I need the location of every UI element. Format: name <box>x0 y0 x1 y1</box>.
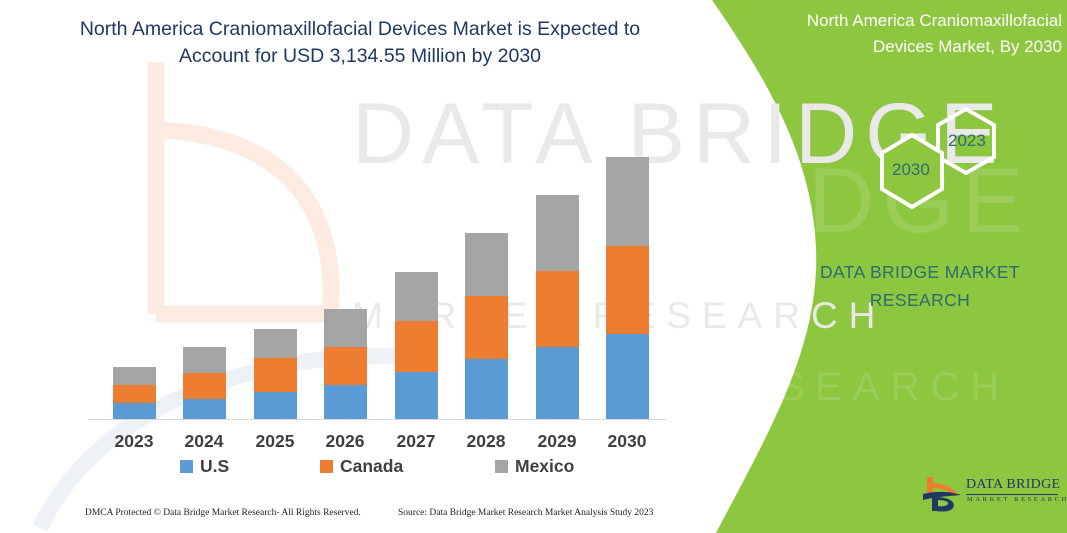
x-axis-label-2027: 2027 <box>381 431 451 452</box>
bar-segment-us-2025 <box>254 392 297 419</box>
legend-label: U.S <box>200 456 229 477</box>
data-bridge-mark-icon <box>920 474 964 514</box>
footer: DMCA Protected © Data Bridge Market Rese… <box>0 508 700 530</box>
legend-label: Mexico <box>515 456 574 477</box>
chart-title: North America Craniomaxillofacial Device… <box>70 16 650 70</box>
hexagon-2023-label: 2023 <box>948 131 986 151</box>
legend-label: Canada <box>340 456 403 477</box>
legend-swatch-icon <box>180 460 193 473</box>
bar-segment-us-2029 <box>536 347 579 419</box>
bar-segment-canada-2023 <box>113 385 156 403</box>
x-axis-label-2026: 2026 <box>310 431 380 452</box>
bar-segment-mexico-2025 <box>254 329 297 358</box>
bar-2028 <box>465 233 508 419</box>
bar-2025 <box>254 329 297 419</box>
bar-segment-canada-2024 <box>183 373 226 399</box>
panel-title: North America Craniomaxillofacial Device… <box>772 8 1062 60</box>
bar-segment-us-2023 <box>113 403 156 419</box>
bar-segment-canada-2026 <box>324 347 367 385</box>
infographic-canvas: DATA BRIDGE MARKET RESEARCH RIDGE RESEAR… <box>0 0 1067 533</box>
bar-segment-mexico-2024 <box>183 347 226 373</box>
bar-segment-mexico-2030 <box>606 157 649 246</box>
x-axis-labels: 20232024202520262027202820292030 <box>0 431 700 455</box>
bar-segment-us-2026 <box>324 385 367 419</box>
bar-segment-mexico-2027 <box>395 272 438 321</box>
panel-brand-line1: DATA BRIDGE MARKET <box>790 258 1050 286</box>
svg-text:RESEARCH: RESEARCH <box>700 365 1010 409</box>
x-axis-label-2030: 2030 <box>592 431 662 452</box>
bar-segment-canada-2025 <box>254 358 297 392</box>
bar-segment-us-2030 <box>606 334 649 419</box>
logo-divider <box>966 494 1058 495</box>
panel-brand-line2: RESEARCH <box>790 286 1050 314</box>
data-bridge-logo: DATA BRIDGE MARKET RESEARCH <box>920 474 1060 516</box>
logo-title: DATA BRIDGE <box>966 477 1060 493</box>
bar-segment-canada-2028 <box>465 296 508 359</box>
bar-2030 <box>606 157 649 419</box>
bar-segment-us-2028 <box>465 359 508 419</box>
legend-item-mexico[interactable]: Mexico <box>495 456 574 477</box>
x-axis-label-2025: 2025 <box>240 431 310 452</box>
bar-segment-canada-2029 <box>536 271 579 347</box>
hexagon-group: 2030 2023 <box>820 95 1020 225</box>
logo-subtitle: MARKET RESEARCH <box>967 496 1067 503</box>
legend-item-canada[interactable]: Canada <box>320 456 403 477</box>
x-axis-label-2023: 2023 <box>99 431 169 452</box>
footer-copyright: DMCA Protected © Data Bridge Market Rese… <box>85 508 361 518</box>
bar-2026 <box>324 309 367 419</box>
panel-brand: DATA BRIDGE MARKET RESEARCH <box>790 258 1050 314</box>
bar-2027 <box>395 272 438 419</box>
bar-segment-canada-2027 <box>395 321 438 372</box>
bar-segment-us-2027 <box>395 372 438 419</box>
x-axis-line <box>88 419 666 420</box>
footer-source: Source: Data Bridge Market Research Mark… <box>398 508 653 518</box>
bar-segment-us-2024 <box>183 399 226 419</box>
legend-item-us[interactable]: U.S <box>180 456 229 477</box>
chart-legend: U.SCanadaMexico <box>0 456 700 482</box>
bar-segment-mexico-2026 <box>324 309 367 347</box>
bar-2023 <box>113 367 156 419</box>
legend-swatch-icon <box>495 460 508 473</box>
bar-2024 <box>183 347 226 419</box>
hexagon-2030-label: 2030 <box>892 160 930 180</box>
legend-swatch-icon <box>320 460 333 473</box>
bar-segment-mexico-2029 <box>536 195 579 271</box>
x-axis-label-2024: 2024 <box>169 431 239 452</box>
bar-segment-canada-2030 <box>606 246 649 334</box>
x-axis-label-2028: 2028 <box>451 431 521 452</box>
bar-segment-mexico-2028 <box>465 233 508 296</box>
bar-segment-mexico-2023 <box>113 367 156 385</box>
x-axis-label-2029: 2029 <box>522 431 592 452</box>
bar-2029 <box>536 195 579 419</box>
